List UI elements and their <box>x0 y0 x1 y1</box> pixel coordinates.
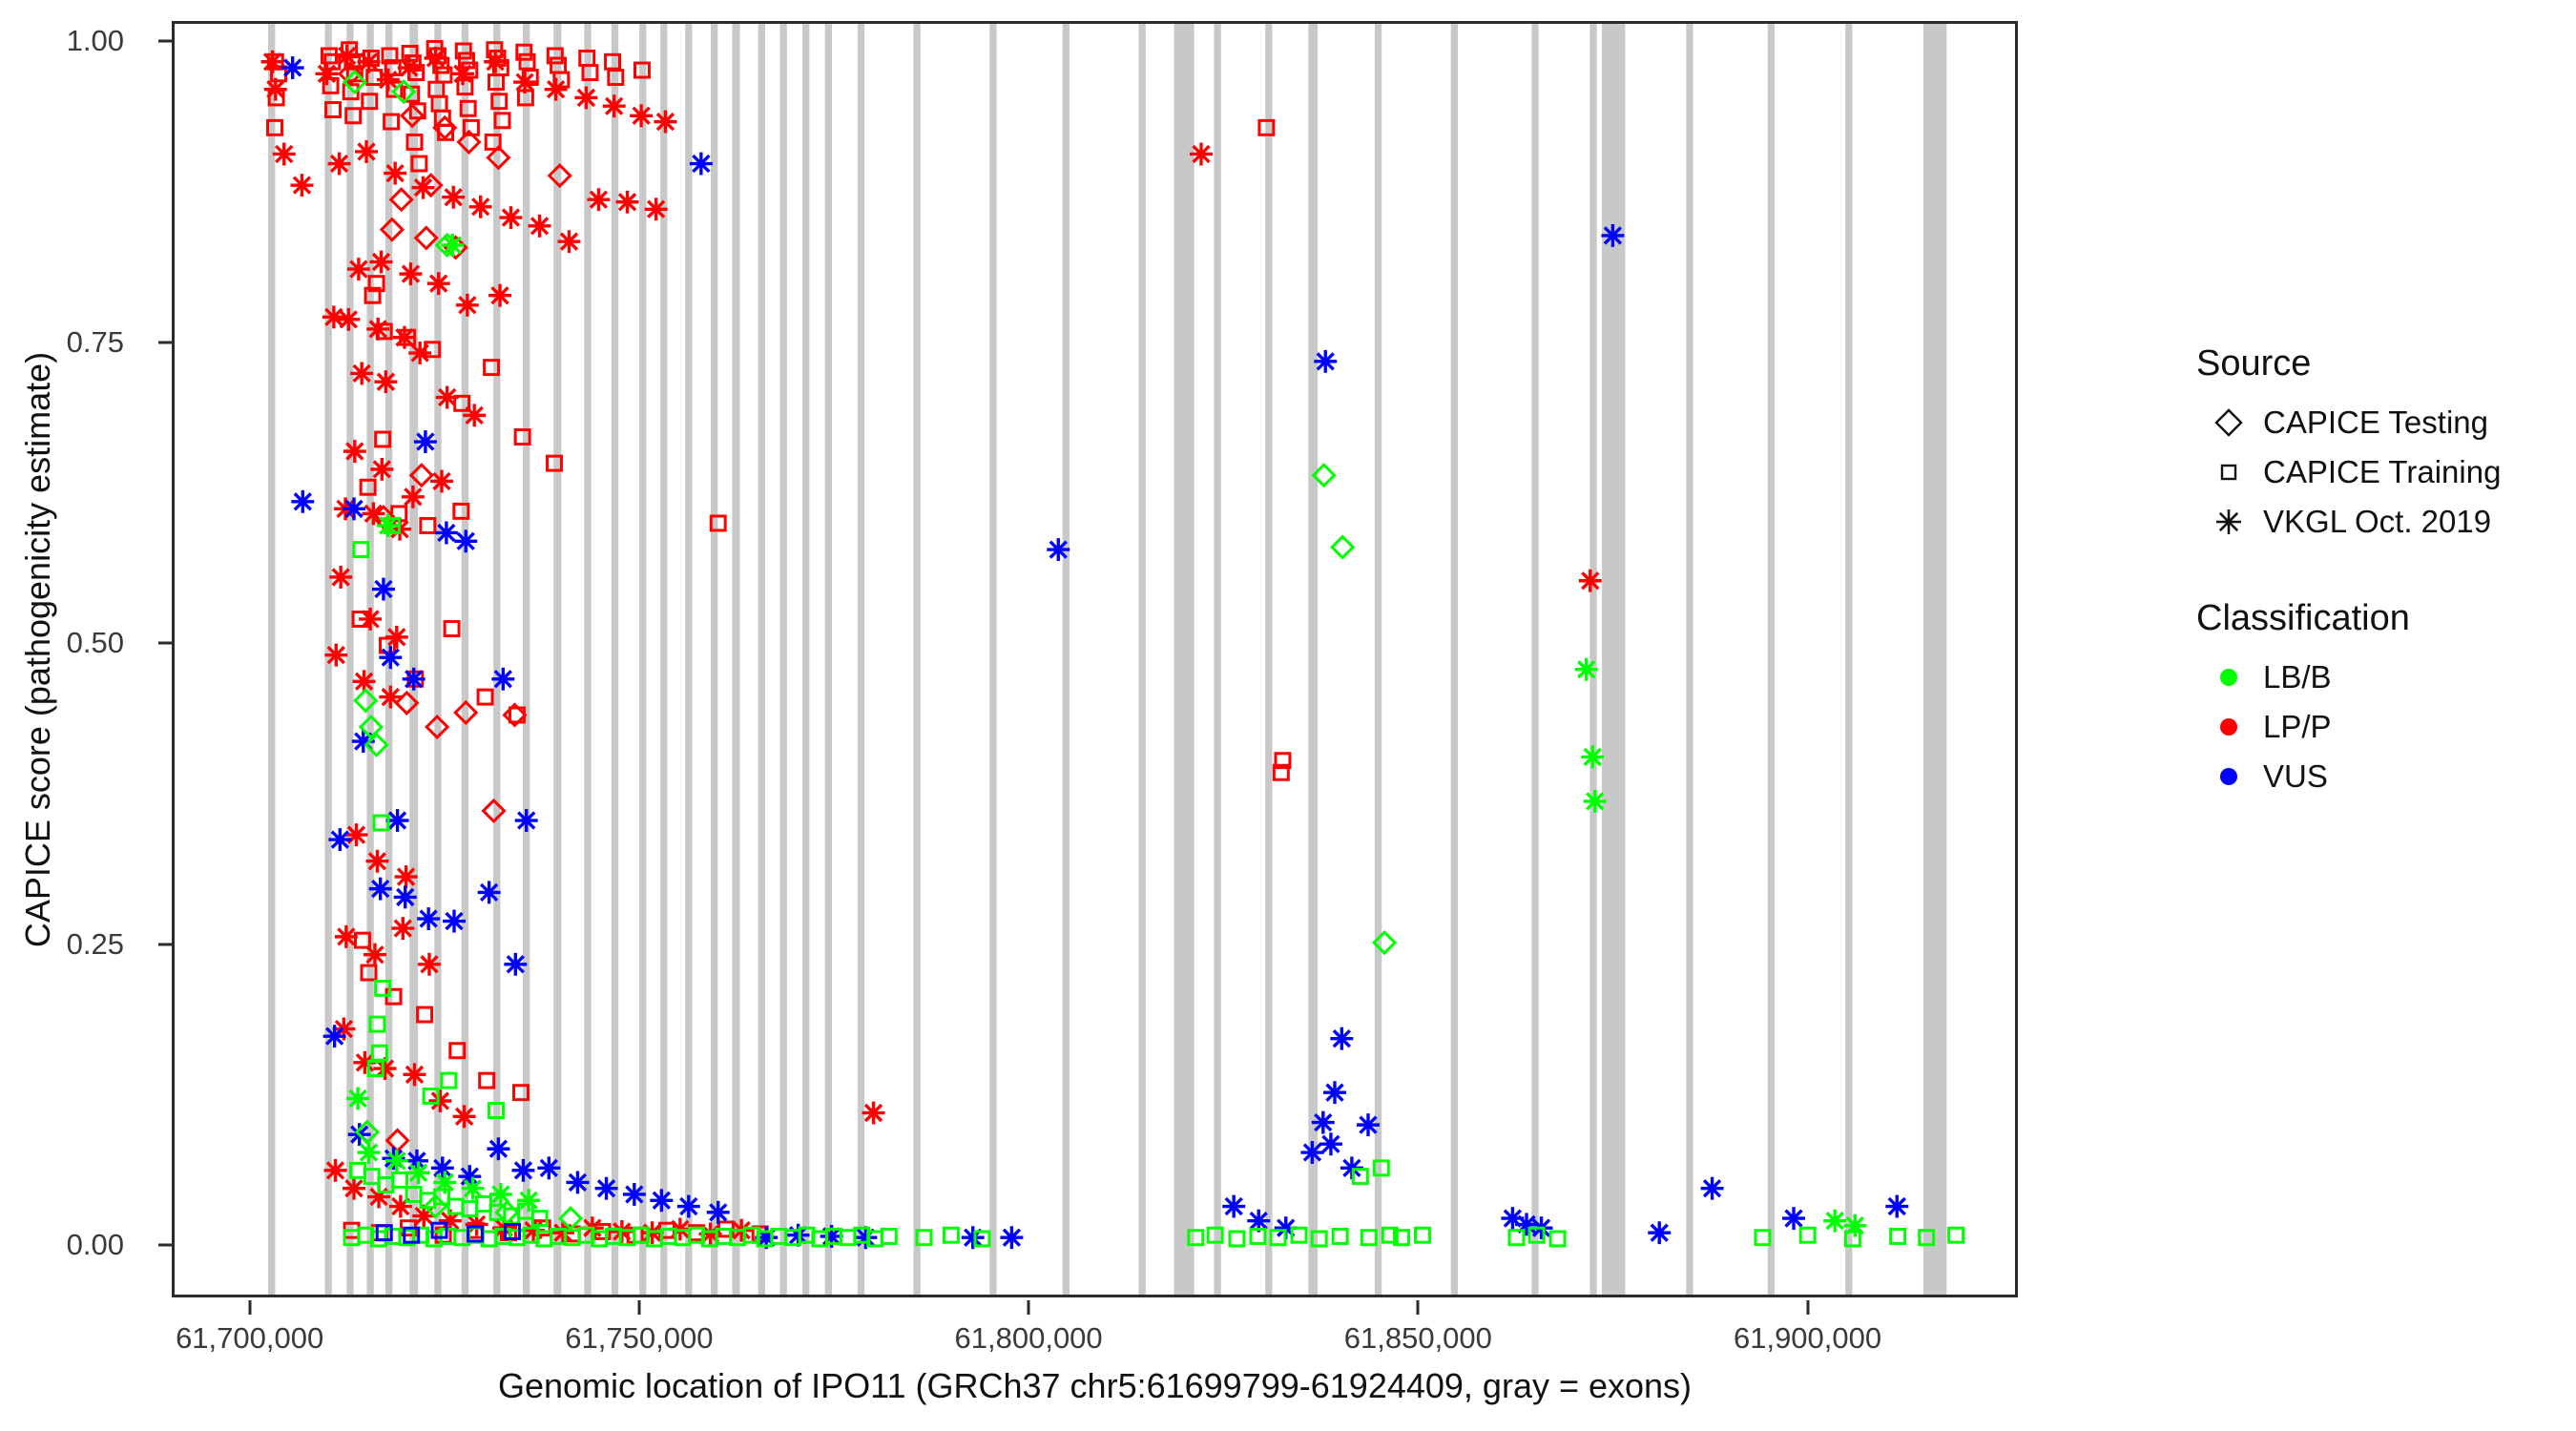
x-tick-mark <box>1028 1300 1030 1315</box>
asterisk-icon <box>2194 503 2263 541</box>
y-tick-label: 1.00 <box>67 24 124 58</box>
legend-item-vkgl[interactable]: VKGL Oct. 2019 <box>2194 497 2557 547</box>
x-axis-title: Genomic location of IPO11 (GRCh37 chr5:6… <box>172 1366 2018 1406</box>
x-tick-mark <box>1417 1300 1420 1315</box>
legend-label: CAPICE Testing <box>2263 404 2488 441</box>
data-points-layer <box>175 24 2015 1295</box>
legend-title-source: Source <box>2196 343 2557 384</box>
legend: Source CAPICE Testing CAPICE Training <box>2194 343 2557 853</box>
y-tick-mark <box>158 40 172 43</box>
series-LB-B-CAPICE-Testing <box>344 72 1395 1229</box>
y-tick-label: 0.50 <box>67 626 124 660</box>
y-tick-mark <box>158 1244 172 1247</box>
legend-group-source: Source CAPICE Testing CAPICE Training <box>2194 343 2557 547</box>
legend-title-classification: Classification <box>2196 598 2557 639</box>
legend-label: CAPICE Training <box>2263 454 2501 490</box>
legend-item-lb-b[interactable]: LB/B <box>2194 653 2557 702</box>
y-tick-label: 0.25 <box>67 927 124 962</box>
square-outline-icon <box>2194 453 2263 491</box>
legend-label: LB/B <box>2263 659 2332 695</box>
x-tick-label: 61,850,000 <box>1344 1321 1492 1356</box>
legend-label: LP/P <box>2263 709 2332 745</box>
x-tick-label: 61,700,000 <box>176 1321 323 1356</box>
x-tick-mark <box>248 1300 251 1315</box>
filled-circle-icon <box>2194 757 2263 796</box>
y-tick-label: 0.00 <box>67 1228 124 1262</box>
series-LB-B-CAPICE-Training <box>344 518 1963 1245</box>
plot-panel <box>172 21 2018 1297</box>
y-tick-label: 0.75 <box>67 325 124 360</box>
filled-circle-icon <box>2194 708 2263 746</box>
legend-label: VKGL Oct. 2019 <box>2263 504 2491 540</box>
legend-item-lp-p[interactable]: LP/P <box>2194 702 2557 752</box>
plot-area <box>175 24 2015 1295</box>
legend-item-capice-testing[interactable]: CAPICE Testing <box>2194 398 2557 447</box>
x-tick-label: 61,800,000 <box>955 1321 1103 1356</box>
y-axis-title: CAPICE score (pathogenicity estimate) <box>18 77 58 1222</box>
diamond-outline-icon <box>2194 404 2263 442</box>
x-tick-mark <box>1806 1300 1809 1315</box>
legend-label: VUS <box>2263 758 2328 795</box>
x-tick-mark <box>637 1300 640 1315</box>
x-tick-label: 61,750,000 <box>565 1321 713 1356</box>
series-LP-P-CAPICE-Training <box>268 41 1290 1242</box>
y-tick-mark <box>158 642 172 645</box>
series-LB-B-VKGL-Oct--2019 <box>346 234 1866 1237</box>
x-tick-label: 61,900,000 <box>1734 1321 1881 1356</box>
legend-group-classification: Classification LB/B LP/P VUS <box>2194 598 2557 801</box>
filled-circle-icon <box>2194 658 2263 696</box>
y-tick-mark <box>158 341 172 343</box>
series-LP-P-VKGL-Oct--2019 <box>261 45 1602 1246</box>
legend-item-capice-training[interactable]: CAPICE Training <box>2194 447 2557 497</box>
legend-item-vus[interactable]: VUS <box>2194 752 2557 801</box>
y-tick-mark <box>158 943 172 945</box>
series-VUS-VKGL-Oct--2019 <box>281 56 1908 1249</box>
